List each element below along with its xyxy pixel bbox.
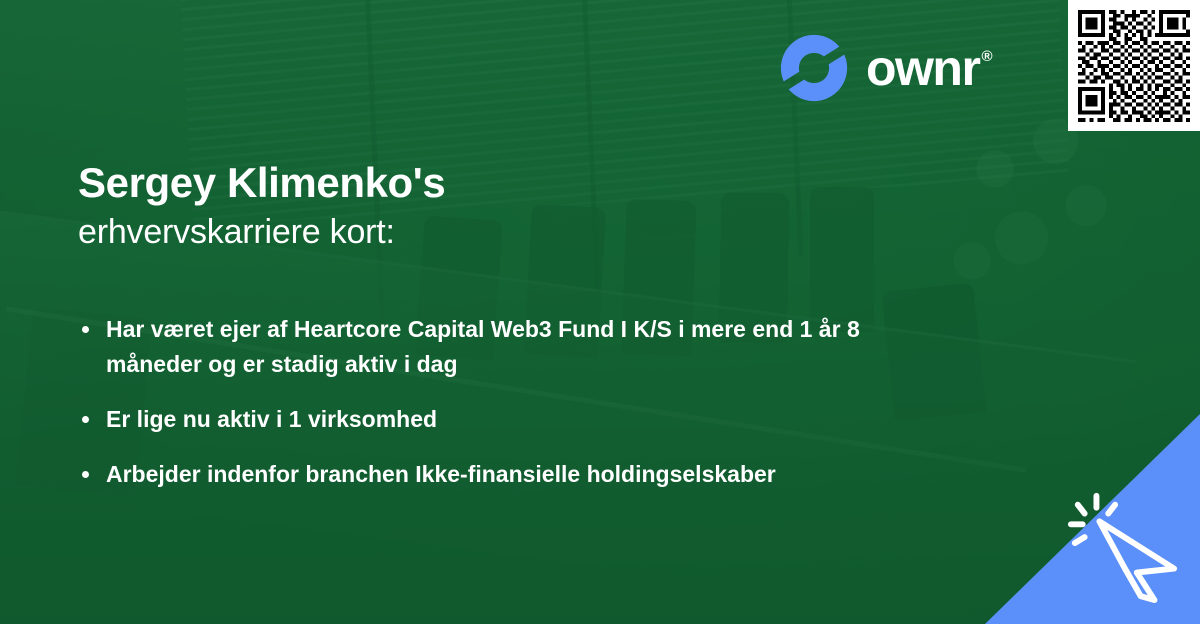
bullet-icon [82,326,89,333]
career-fact-text: Er lige nu aktiv i 1 virksomhed [106,406,437,432]
career-fact-item: Arbejder indenfor branchen Ikke-finansie… [78,457,958,492]
career-fact-text: Har været ejer af Heartcore Capital Web3… [106,316,860,377]
page-title: Sergey Klimenko's [78,158,938,208]
qr-code [1078,10,1190,122]
ownr-wordmark-text: ownr [866,43,979,93]
click-cursor-icon [1064,486,1182,604]
ownr-circle-logomark [778,32,850,104]
ownr-wordmark: ownr ® [866,43,993,93]
career-card: ownr ® Sergey Klimenko's erhvervskarrier… [0,0,1200,624]
career-fact-item: Har været ejer af Heartcore Capital Web3… [78,312,958,382]
registered-trademark-symbol: ® [981,49,992,64]
page-subtitle: erhvervskarriere kort: [78,210,938,254]
heading-block: Sergey Klimenko's erhvervskarriere kort: [78,158,938,254]
career-fact-text: Arbejder indenfor branchen Ikke-finansie… [106,461,776,487]
career-fact-item: Er lige nu aktiv i 1 virksomhed [78,402,958,437]
bullet-icon [82,416,89,423]
bullet-icon [82,471,89,478]
qr-code-panel[interactable] [1068,0,1200,131]
career-facts-list: Har været ejer af Heartcore Capital Web3… [78,312,958,492]
ownr-logo[interactable]: ownr ® [778,32,993,104]
